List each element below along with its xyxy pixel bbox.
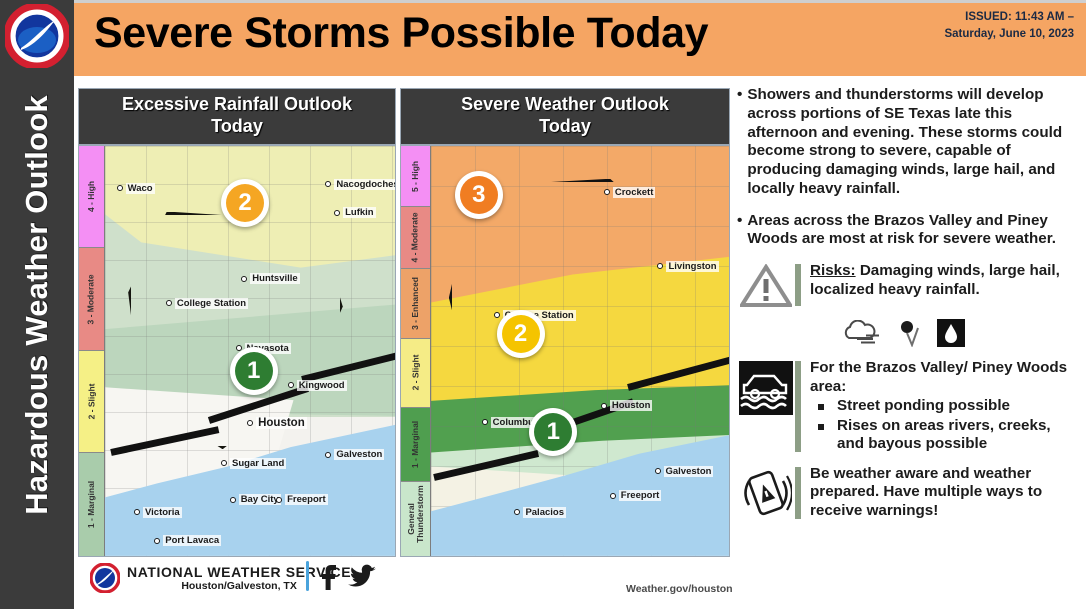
divider bbox=[306, 561, 309, 591]
city-dot bbox=[288, 382, 294, 388]
discussion-bullet-2: • Areas across the Brazos Valley and Pin… bbox=[737, 212, 1081, 250]
city-label: Kingwood bbox=[288, 380, 347, 391]
city-dot bbox=[117, 185, 123, 191]
website-link[interactable]: Weather.gov/houston bbox=[626, 583, 733, 595]
risk-badge-1: 1 bbox=[230, 347, 278, 395]
city-dot bbox=[276, 497, 282, 503]
discussion-bullet-2-text: Areas across the Brazos Valley and Piney… bbox=[747, 212, 1081, 250]
nws-seal-icon bbox=[90, 563, 120, 593]
legend-cell: 1 - Marginal bbox=[401, 408, 430, 482]
sidebar-vertical-label: Hazardous Weather Outlook bbox=[0, 0, 74, 609]
panel-title-line1: Severe Weather Outlook bbox=[403, 94, 727, 116]
heavy-rain-icon bbox=[937, 319, 965, 347]
city-dot bbox=[514, 509, 520, 515]
legend-cell: 5 - High bbox=[401, 146, 430, 208]
risk-badge-value: 1 bbox=[235, 352, 273, 390]
panel-title-line2: Today bbox=[403, 116, 727, 138]
bullet-marker: • bbox=[737, 212, 742, 250]
city-label: Port Lavaca bbox=[154, 535, 221, 546]
legend-cell: 3 - Moderate bbox=[79, 248, 104, 351]
legend-cell: 4 - Moderate bbox=[401, 207, 430, 269]
discussion-panel: • Showers and thunderstorms will develop… bbox=[737, 86, 1081, 532]
city-label: Crockett bbox=[604, 187, 656, 198]
map-excessive-rainfall[interactable]: 4 - High 3 - Moderate 2 - Slight 1 - Mar… bbox=[78, 145, 396, 557]
hazard-icon-row bbox=[841, 319, 1081, 347]
panel-title-line2: Today bbox=[81, 116, 393, 138]
flood-item-text: Rises on areas rivers, creeks, and bayou… bbox=[837, 417, 1081, 454]
hail-icon bbox=[898, 319, 924, 347]
preparedness-text: Be weather aware and weather prepared. H… bbox=[810, 465, 1081, 521]
flood-text: For the Brazos Valley/ Piney Woods area:… bbox=[810, 359, 1081, 454]
city-dot bbox=[482, 419, 488, 425]
city-label: Nacogdoches bbox=[325, 179, 395, 190]
discussion-bullet-1-text: Showers and thunderstorms will develop a… bbox=[747, 86, 1081, 199]
legend-excessive-rainfall: 4 - High 3 - Moderate 2 - Slight 1 - Mar… bbox=[79, 146, 105, 556]
risk-badge-value: 2 bbox=[226, 184, 264, 222]
city-label: College Station bbox=[166, 298, 248, 309]
city-dot bbox=[655, 468, 661, 474]
discussion-bullet-1: • Showers and thunderstorms will develop… bbox=[737, 86, 1081, 199]
risks-row: Risks: Damaging winds, large hail, local… bbox=[737, 262, 1081, 308]
list-item: Rises on areas rivers, creeks, and bayou… bbox=[810, 417, 1081, 454]
social-links bbox=[306, 561, 377, 591]
city-label: Houston bbox=[601, 400, 653, 411]
city-label: Sugar Land bbox=[221, 458, 286, 469]
page-title: Severe Storms Possible Today bbox=[94, 9, 708, 58]
issued-timestamp: ISSUED: 11:43 AM – Saturday, June 10, 20… bbox=[944, 9, 1074, 42]
legend-cell: 1 - Marginal bbox=[79, 453, 104, 556]
city-dot bbox=[325, 452, 331, 458]
phone-alert-icon bbox=[737, 465, 795, 519]
wind-cloud-icon bbox=[841, 320, 885, 346]
header-banner: Severe Storms Possible Today ISSUED: 11:… bbox=[74, 0, 1086, 76]
twitter-icon[interactable] bbox=[347, 561, 377, 591]
flood-item-text: Street ponding possible bbox=[837, 397, 1010, 416]
city-dot bbox=[247, 420, 253, 426]
city-dot bbox=[230, 497, 236, 503]
risk-badge-value: 1 bbox=[534, 413, 572, 451]
city-dot bbox=[604, 189, 610, 195]
footer: NATIONAL WEATHER SERVICE Houston/Galvest… bbox=[74, 557, 1086, 609]
legend-cell: 3 - Enhanced bbox=[401, 269, 430, 339]
flood-item-list: Street ponding possible Rises on areas r… bbox=[810, 397, 1081, 454]
accent-bar bbox=[795, 361, 801, 452]
square-bullet-icon bbox=[818, 424, 824, 430]
square-bullet-icon bbox=[818, 404, 824, 410]
city-label: Bay City bbox=[230, 494, 281, 505]
legend-cell: General Thunderstorm bbox=[401, 482, 430, 556]
panel-title-severe-weather: Severe Weather Outlook Today bbox=[400, 88, 730, 145]
city-label: Galveston bbox=[325, 449, 384, 460]
infographic-root: Hazardous Weather Outlook Severe Storms … bbox=[0, 0, 1086, 609]
risks-text: Risks: Damaging winds, large hail, local… bbox=[810, 262, 1081, 299]
risks-label: Risks: bbox=[810, 262, 856, 279]
city-label: Livingston bbox=[657, 261, 718, 272]
city-label: Galveston bbox=[655, 466, 714, 477]
accent-bar bbox=[795, 264, 801, 306]
sidebar: Hazardous Weather Outlook bbox=[0, 0, 74, 609]
panel-title-excessive-rainfall: Excessive Rainfall Outlook Today bbox=[78, 88, 396, 145]
flood-heading: For the Brazos Valley/ Piney Woods area: bbox=[810, 359, 1081, 396]
panel-title-line1: Excessive Rainfall Outlook bbox=[81, 94, 393, 116]
city-label: Waco bbox=[117, 183, 155, 194]
city-dot bbox=[134, 509, 140, 515]
facebook-icon[interactable] bbox=[317, 561, 339, 591]
legend-severe-weather: 5 - High 4 - Moderate 3 - Enhanced 2 - S… bbox=[401, 146, 431, 556]
risk-badge-2: 2 bbox=[497, 310, 545, 358]
panel-excessive-rainfall: Excessive Rainfall Outlook Today 4 - Hig… bbox=[78, 88, 396, 557]
panel-severe-weather: Severe Weather Outlook Today 5 - High 4 … bbox=[400, 88, 730, 557]
city-label: Victoria bbox=[134, 507, 182, 518]
risk-badge-value: 3 bbox=[460, 176, 498, 214]
city-label: Houston bbox=[247, 417, 307, 429]
sidebar-label-text: Hazardous Weather Outlook bbox=[19, 95, 55, 515]
city-label: Palacios bbox=[514, 507, 566, 518]
legend-cell: 2 - Slight bbox=[79, 351, 104, 454]
city-dot bbox=[610, 493, 616, 499]
list-item: Street ponding possible bbox=[810, 397, 1081, 416]
city-label: Freeport bbox=[276, 494, 328, 505]
city-dot bbox=[494, 312, 500, 318]
map-canvas-severe-weather: Crockett College Station Livingston Colu… bbox=[431, 146, 729, 556]
issued-line-2: Saturday, June 10, 2023 bbox=[944, 26, 1074, 43]
city-label: Lufkin bbox=[334, 207, 376, 218]
city-dot bbox=[657, 263, 663, 269]
accent-bar bbox=[795, 467, 801, 519]
city-dot bbox=[601, 403, 607, 409]
city-label: Huntsville bbox=[241, 273, 299, 284]
risk-badge-3: 3 bbox=[455, 171, 503, 219]
city-dot bbox=[241, 276, 247, 282]
preparedness-row: Be weather aware and weather prepared. H… bbox=[737, 465, 1081, 521]
map-severe-weather[interactable]: 5 - High 4 - Moderate 3 - Enhanced 2 - S… bbox=[400, 145, 730, 557]
city-dot bbox=[334, 210, 340, 216]
flood-row: For the Brazos Valley/ Piney Woods area:… bbox=[737, 359, 1081, 454]
legend-cell: 4 - High bbox=[79, 146, 104, 249]
map-canvas-excessive-rainfall: Waco Nacogdoches Lufkin College Station … bbox=[105, 146, 395, 556]
city-dot bbox=[325, 181, 331, 187]
risk-badge-value: 2 bbox=[502, 315, 540, 353]
bullet-marker: • bbox=[737, 86, 742, 199]
legend-cell: 2 - Slight bbox=[401, 339, 430, 409]
city-label: Freeport bbox=[610, 490, 662, 501]
warning-triangle-icon bbox=[737, 262, 795, 308]
city-dot bbox=[166, 300, 172, 306]
car-in-floodwater-icon bbox=[737, 359, 795, 415]
issued-line-1: ISSUED: 11:43 AM – bbox=[944, 9, 1074, 26]
city-dot bbox=[154, 538, 160, 544]
risk-badge-2: 2 bbox=[221, 179, 269, 227]
city-dot bbox=[221, 460, 227, 466]
